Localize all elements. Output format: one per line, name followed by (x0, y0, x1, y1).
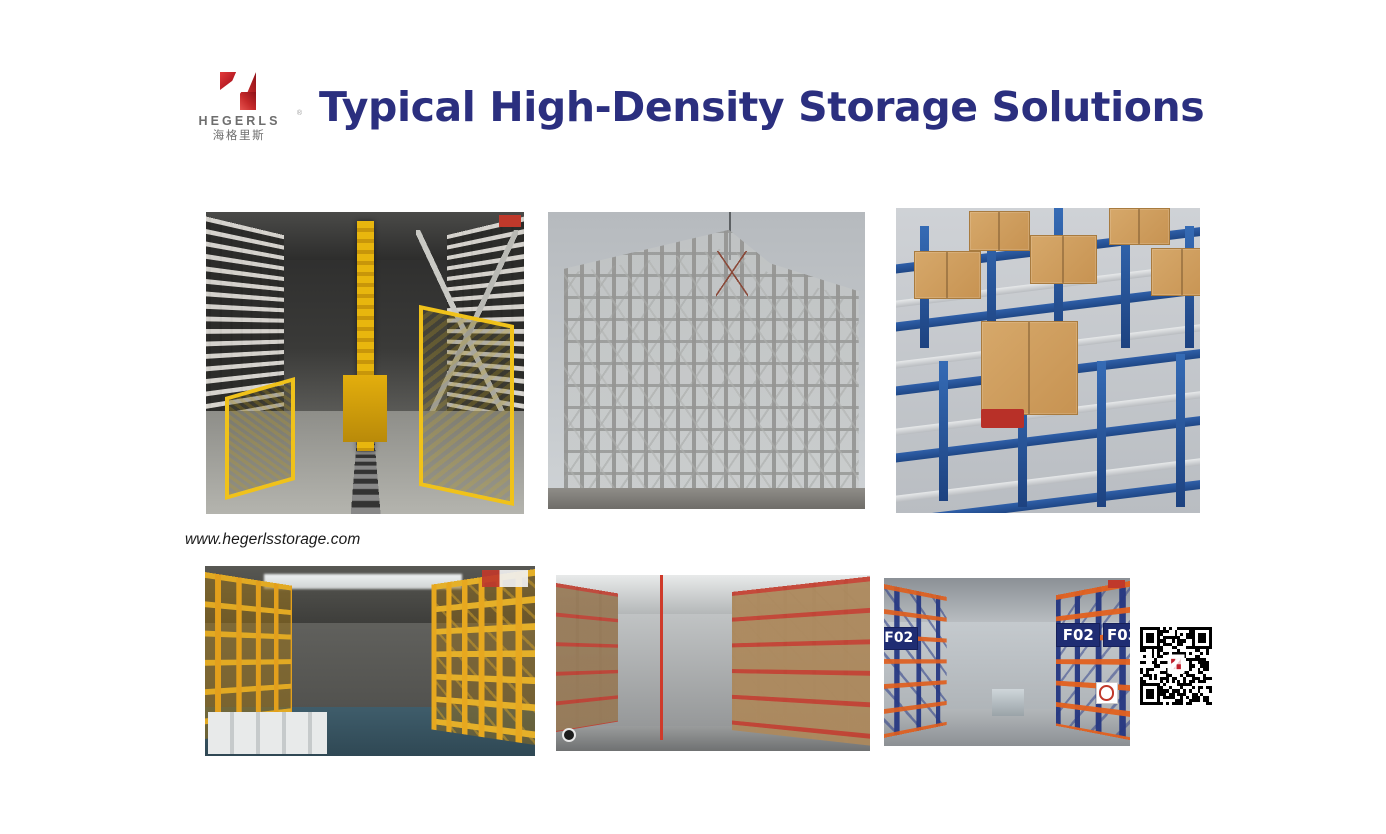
photo-pallet-shuttle-racking-cartons (896, 208, 1200, 513)
aisle-sign-f03: F03 (1103, 623, 1130, 647)
hegerls-mark-icon (214, 70, 262, 112)
logo-wordmark: HEGERLS (178, 115, 298, 128)
aisle-sign-f02-left: F02 (884, 627, 918, 651)
image-watermark (482, 570, 528, 587)
photo-asrs-stacker-crane-aisle (206, 212, 524, 514)
photo-yellow-drive-in-racking (205, 566, 535, 756)
qr-code[interactable] (1140, 627, 1212, 705)
logo-chinese-name: 海格里斯 (178, 128, 298, 144)
company-logo: HEGERLS ® 海格里斯 (178, 70, 298, 148)
website-url[interactable]: www.hegerlsstorage.com (185, 531, 360, 549)
photo-selective-pallet-racking (556, 575, 870, 751)
photo-rack-clad-building-construction (548, 212, 865, 509)
qr-center-logo-icon (1168, 655, 1185, 674)
no-entry-sign-icon (1096, 682, 1118, 704)
page-title: Typical High-Density Storage Solutions (319, 83, 1204, 131)
registered-trademark-icon: ® (297, 110, 302, 117)
photo-blue-orange-racking-aisle: F02 F02 F03 (884, 578, 1130, 746)
aisle-sign-f02-right: F02 (1056, 623, 1100, 647)
presentation-slide: HEGERLS ® 海格里斯 Typical High-Density Stor… (0, 0, 1386, 834)
